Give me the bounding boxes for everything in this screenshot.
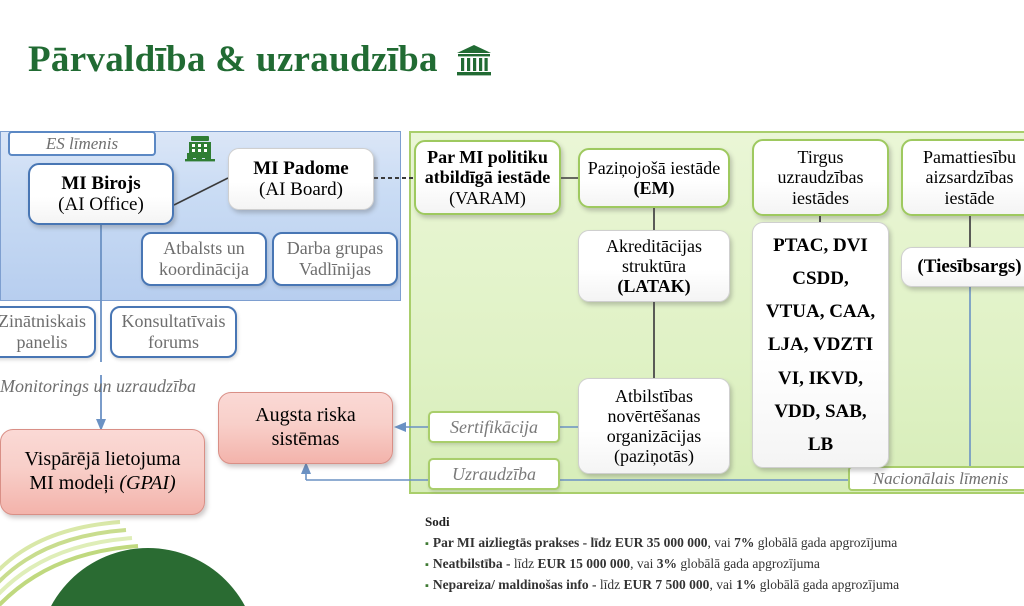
bullet-icon: ▪	[425, 539, 429, 550]
fundamental-rights-line3: iestāde	[923, 188, 1016, 208]
page-title-text: Pārvaldība & uzraudzība	[28, 38, 438, 81]
scientific-panel-box[interactable]: Zinātniskais panelis	[0, 306, 96, 358]
agency-line: LB	[766, 428, 875, 461]
fundamental-rights-line2: aizsardzības	[923, 167, 1016, 187]
penalty-text: Par MI aizliegtās prakses - līdz EUR 35 …	[433, 533, 897, 554]
agency-line: PTAC, DVI	[766, 229, 875, 262]
policy-authority-box[interactable]: Par MI politiku atbildīgā iestāde (VARAM…	[414, 140, 561, 215]
gpai-models-box[interactable]: Vispārējā lietojuma MI modeļi (GPAI)	[0, 429, 205, 515]
market-surveillance-line2: uzraudzības	[778, 167, 864, 187]
ai-office-title: MI Birojs	[58, 173, 144, 194]
support-line2: koordinācija	[159, 259, 249, 280]
penalty-text: Neatbilstība - līdz EUR 15 000 000, vai …	[433, 554, 820, 575]
advisory-forum-line2: forums	[122, 332, 226, 353]
support-line1: Atbalsts un	[159, 238, 249, 259]
slide-canvas: Pārvaldība & uzraudzība	[0, 0, 1024, 606]
notifying-authority-line1: Paziņojošā iestāde	[588, 158, 720, 178]
working-groups-box[interactable]: Darba grupas Vadlīnijas	[272, 232, 398, 286]
conformity-line4: (paziņotās)	[607, 446, 702, 466]
ombudsman-box[interactable]: (Tiesībsargs)	[901, 247, 1024, 287]
penalties-list: ▪Par MI aizliegtās prakses - līdz EUR 35…	[425, 533, 1017, 596]
accreditation-line2: struktūra	[606, 256, 702, 276]
penalty-text: Nepareiza/ maldinošas info - līdz EUR 7 …	[433, 575, 899, 596]
accreditation-line3: (LATAK)	[606, 276, 702, 296]
workgroup-line1: Darba grupas	[287, 238, 383, 259]
office-building-icon	[184, 134, 216, 168]
policy-authority-line3: (VARAM)	[425, 188, 551, 208]
accreditation-line1: Akreditācijas	[606, 236, 702, 256]
fundamental-rights-line1: Pamattiesību	[923, 147, 1016, 167]
agency-line: CSDD,	[766, 262, 875, 295]
advisory-forum-box[interactable]: Konsultatīvais forums	[110, 306, 237, 358]
market-surveillance-box[interactable]: Tirgus uzraudzības iestādes	[752, 139, 889, 216]
support-coordination-box[interactable]: Atbalsts un koordinācija	[141, 232, 267, 286]
penalty-item: ▪Par MI aizliegtās prakses - līdz EUR 35…	[425, 533, 1017, 554]
advisory-forum-line1: Konsultatīvais	[122, 311, 226, 332]
certification-label: Sertifikācija	[428, 411, 560, 443]
decorative-arcs	[0, 520, 150, 606]
gpai-line2-plain: MI modeļi	[29, 472, 119, 494]
page-title: Pārvaldība & uzraudzība	[28, 38, 494, 81]
ai-board-box[interactable]: MI Padome (AI Board)	[228, 148, 374, 210]
supervision-label: Uzraudzība	[428, 458, 560, 490]
market-surveillance-line3: iestādes	[778, 188, 864, 208]
ai-office-box[interactable]: MI Birojs (AI Office)	[28, 163, 174, 225]
penalties-block: Sodi ▪Par MI aizliegtās prakses - līdz E…	[425, 514, 1017, 596]
agency-line: VI, IKVD,	[766, 362, 875, 395]
high-risk-systems-box[interactable]: Augsta riska sistēmas	[218, 392, 393, 464]
classical-building-icon	[454, 40, 494, 80]
penalties-title: Sodi	[425, 514, 1017, 530]
fundamental-rights-box[interactable]: Pamattiesību aizsardzības iestāde	[901, 139, 1024, 216]
science-panel-line1: Zinātniskais	[0, 311, 86, 332]
ombudsman-label: (Tiesībsargs)	[912, 256, 1024, 277]
eu-level-tag: ES līmenis	[8, 131, 156, 156]
ai-board-title: MI Padome	[253, 158, 349, 179]
ai-office-sub: (AI Office)	[58, 194, 144, 215]
ai-board-sub: (AI Board)	[253, 179, 349, 200]
agency-line: LJA, VDZTI	[766, 328, 875, 361]
national-level-tag: Nacionālais līmenis	[848, 466, 1024, 491]
conformity-assessment-box[interactable]: Atbilstības novērtēšanas organizācijas (…	[578, 378, 730, 474]
agency-line: VTUA, CAA,	[766, 295, 875, 328]
penalty-item: ▪Nepareiza/ maldinošas info - līdz EUR 7…	[425, 575, 1017, 596]
gpai-line2: MI modeļi (GPAI)	[25, 472, 181, 496]
notifying-authority-line2: (EM)	[588, 178, 720, 198]
accreditation-body-box[interactable]: Akreditācijas struktūra (LATAK)	[578, 230, 730, 302]
high-risk-line2: sistēmas	[255, 428, 356, 452]
conformity-line1: Atbilstības	[607, 386, 702, 406]
policy-authority-line2: atbildīgā iestāde	[425, 167, 551, 187]
monitoring-label: Monitorings un uzraudzība	[0, 376, 196, 397]
conformity-line3: organizācijas	[607, 426, 702, 446]
policy-authority-line1: Par MI politiku	[425, 147, 551, 167]
conformity-line2: novērtēšanas	[607, 406, 702, 426]
bullet-icon: ▪	[425, 560, 429, 571]
science-panel-line2: panelis	[0, 332, 86, 353]
bullet-icon: ▪	[425, 581, 429, 592]
notifying-authority-box[interactable]: Paziņojošā iestāde (EM)	[578, 148, 730, 208]
gpai-line1: Vispārējā lietojuma	[25, 448, 181, 472]
workgroup-line2: Vadlīnijas	[287, 259, 383, 280]
agency-line: VDD, SAB,	[766, 395, 875, 428]
market-surveillance-line1: Tirgus	[778, 147, 864, 167]
high-risk-line1: Augsta riska	[255, 404, 356, 428]
penalty-item: ▪Neatbilstība - līdz EUR 15 000 000, vai…	[425, 554, 1017, 575]
gpai-line2-italic: (GPAI)	[119, 472, 175, 494]
agencies-list-box[interactable]: PTAC, DVICSDD,VTUA, CAA,LJA, VDZTIVI, IK…	[752, 222, 889, 468]
